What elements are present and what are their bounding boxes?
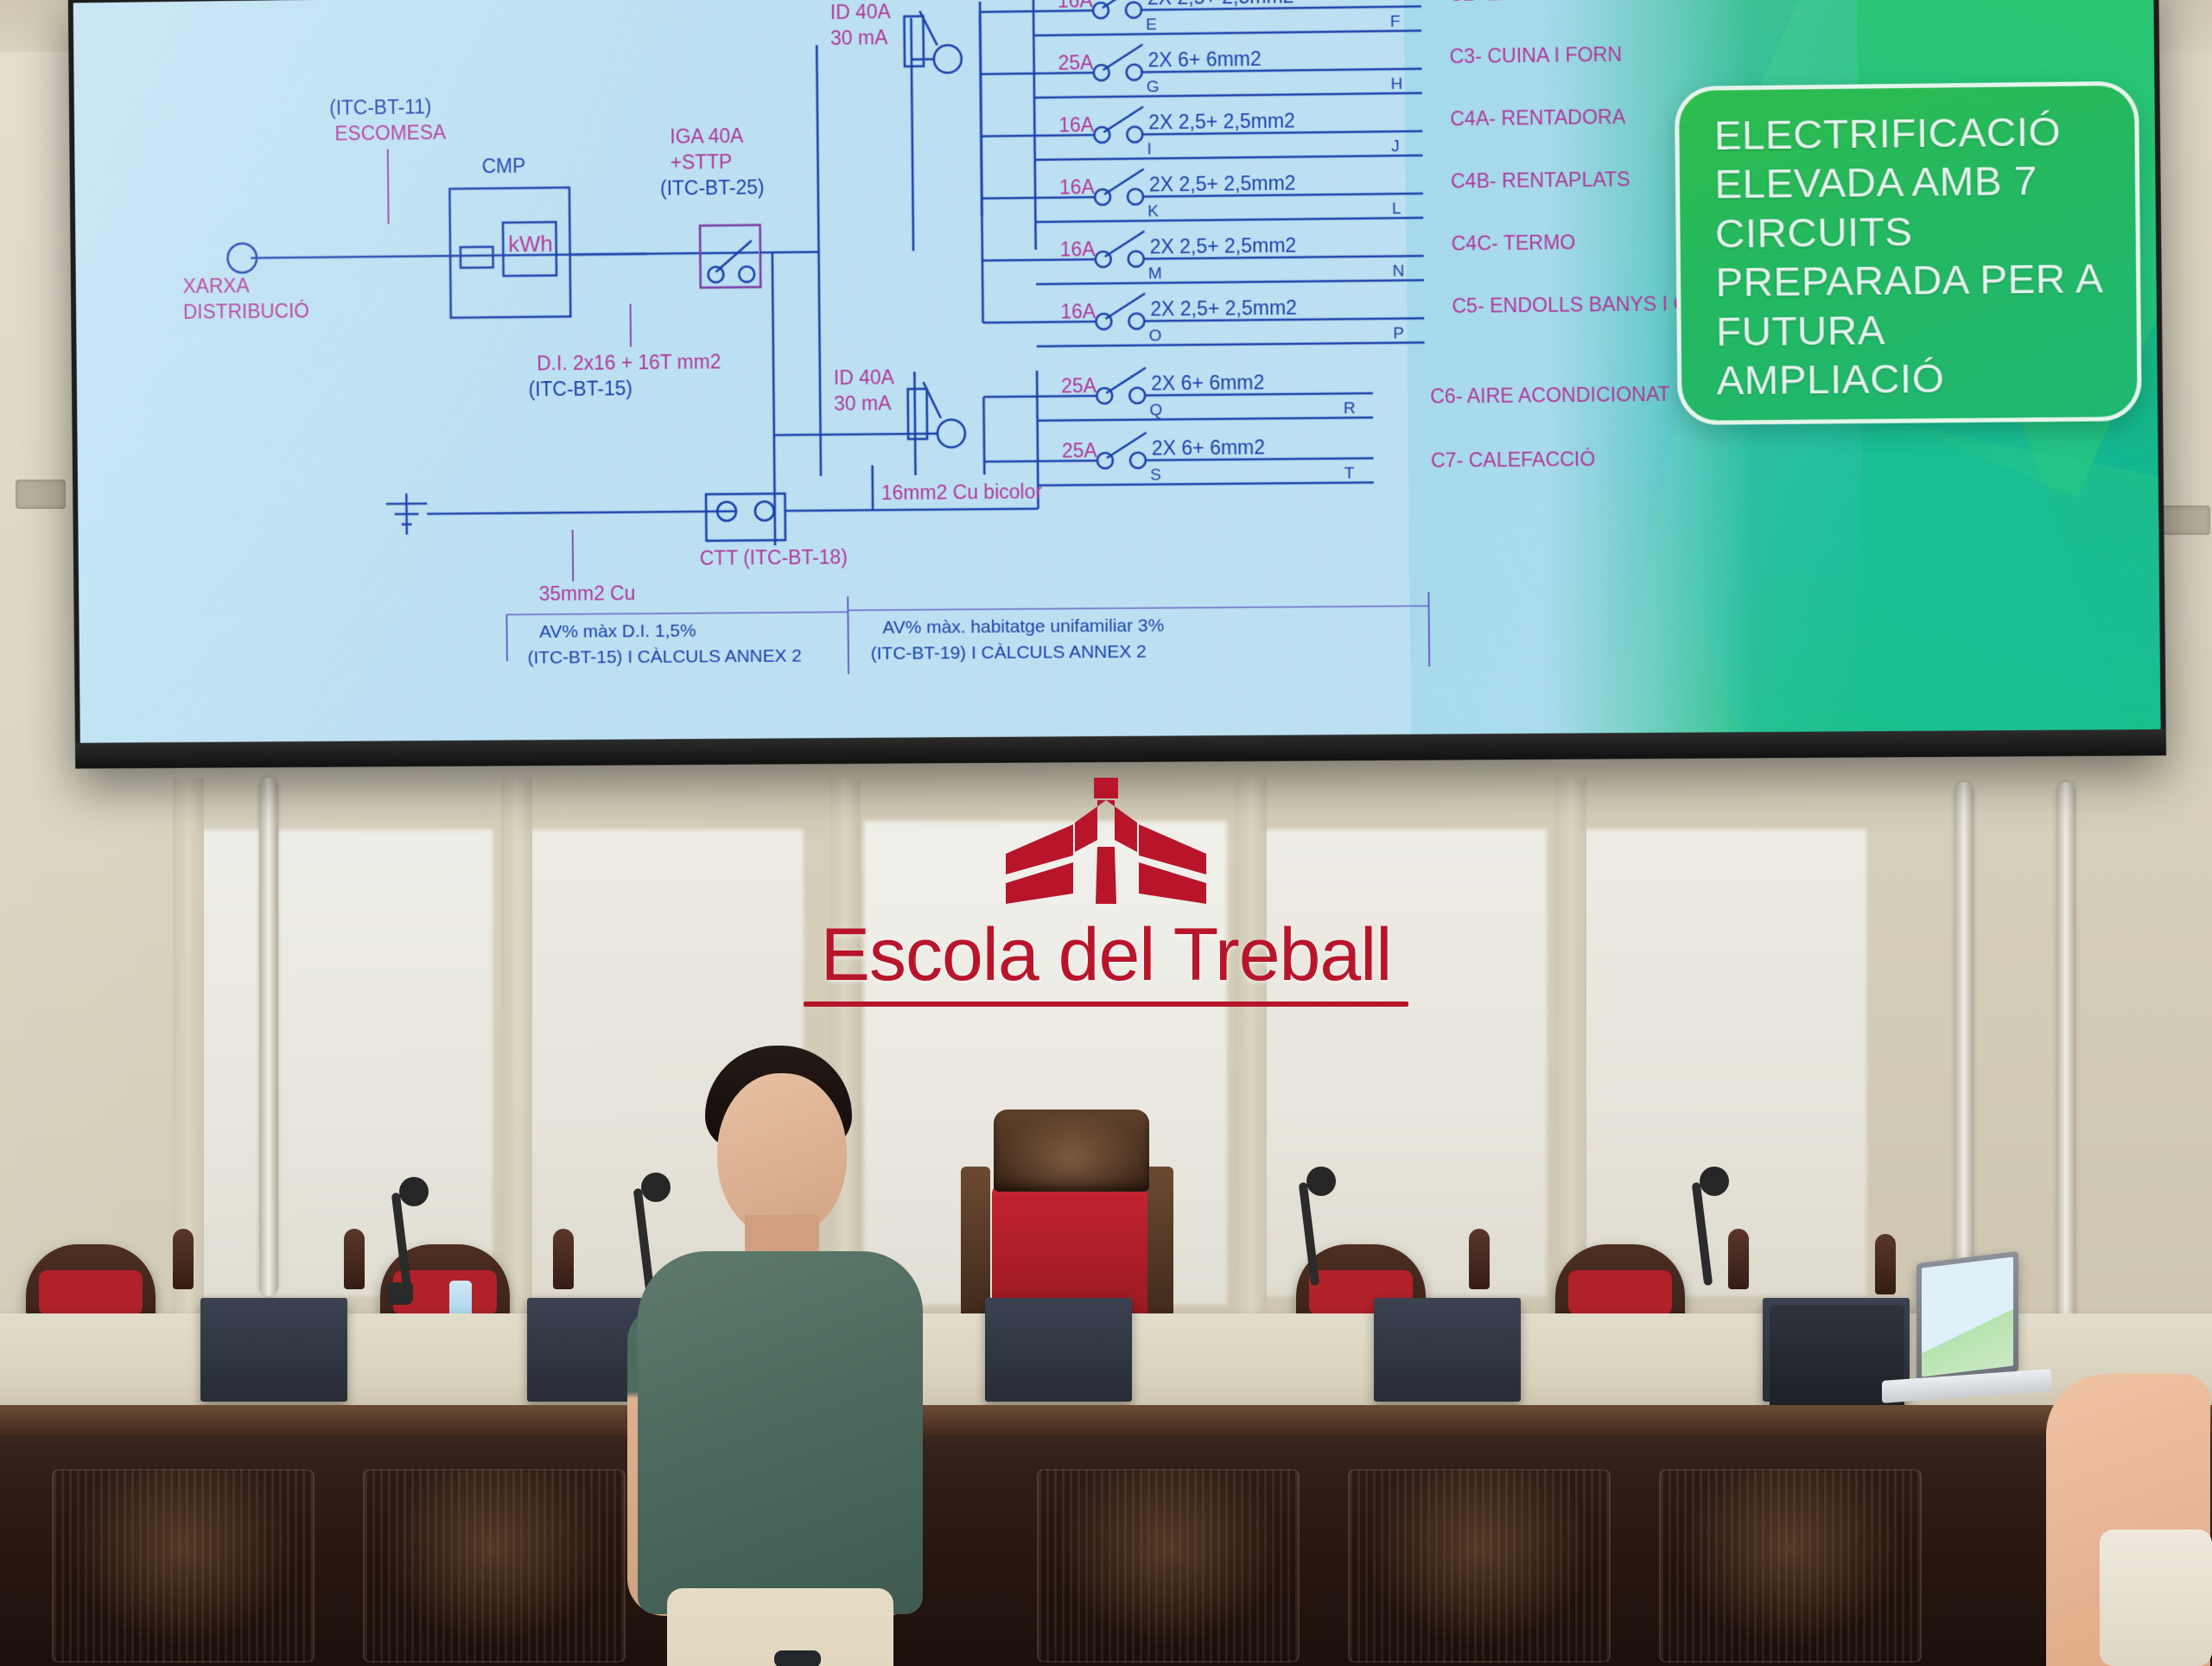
dais-rail — [0, 1405, 2212, 1434]
screenshot-root: XARXA DISTRIBUCIÓ (ITC-BT-11) ESCOMESA C… — [0, 0, 2212, 1666]
microphone-head — [1306, 1167, 1336, 1196]
escola-building-icon — [976, 778, 1236, 907]
breaker-rating: 16A — [1058, 0, 1093, 13]
screen-bracket — [16, 480, 66, 509]
circuit-tag-left: Q — [1149, 400, 1162, 420]
chair-finial — [1469, 1229, 1490, 1289]
screen-bracket — [2160, 506, 2210, 535]
circuit-tag-right: F — [1390, 12, 1401, 32]
voltage-drop-note-left-line2: (ITC-BT-15) I CÀLCULS ANNEX 2 — [527, 645, 802, 670]
wall-column — [501, 778, 532, 1313]
label-cmp: CMP — [482, 154, 526, 178]
wall-pipe — [1955, 782, 1974, 1335]
nameplate — [200, 1298, 347, 1402]
circuit-tag-left: S — [1150, 465, 1161, 485]
circuit-tag-left: O — [1148, 326, 1161, 346]
circuit-name: C3- CUINA I FORN — [1449, 42, 1622, 69]
dais-carving-panel — [1659, 1469, 1922, 1663]
venue-logo-underline — [804, 1002, 1408, 1007]
label-bonding-cable: 16mm2 Cu bicolor — [881, 480, 1042, 506]
circuit-tag-left: G — [1147, 77, 1160, 97]
circuit-tag-left: E — [1146, 15, 1157, 35]
throne-crest-carving — [994, 1110, 1149, 1192]
breaker-rating: 16A — [1058, 112, 1094, 137]
circuit-tag-left: I — [1147, 139, 1152, 159]
dais-carving-panel — [52, 1469, 315, 1663]
circuit-cable: 2X 2,5+ 2,5mm2 — [1149, 233, 1296, 259]
dais-carving-panel — [1348, 1469, 1611, 1663]
single-line-diagram: XARXA DISTRIBUCIÓ (ITC-BT-11) ESCOMESA C… — [167, 0, 1619, 704]
presenter-head — [717, 1073, 847, 1237]
label-derivation-cable: D.I. 2x16 + 16T mm2 — [537, 349, 721, 375]
chair-finial — [1728, 1229, 1749, 1289]
dais-carving-panel — [363, 1469, 626, 1663]
voltage-drop-note-right-line1: AV% màx. habitatge unifamiliar 3% — [882, 615, 1164, 639]
circuit-name: C4A- RENTADORA — [1450, 105, 1625, 131]
breaker-rating: 16A — [1060, 237, 1096, 261]
label-kwh-meter: kWh — [508, 231, 553, 258]
wall-pipe — [2056, 782, 2075, 1335]
presenter — [622, 1046, 985, 1666]
label-rcd1-line1: ID 40A — [830, 0, 891, 24]
circuit-cable: 2X 2,5+ 2,5mm2 — [1149, 171, 1296, 197]
laptop-screen — [1922, 1256, 2013, 1377]
laptop-lid — [1916, 1251, 2018, 1384]
chair-cushion — [39, 1270, 143, 1315]
circuit-tag-right: N — [1393, 261, 1405, 281]
dais-carving-panel — [1037, 1469, 1300, 1663]
label-rcd2-line1: ID 40A — [834, 365, 894, 390]
slide-canvas: XARXA DISTRIBUCIÓ (ITC-BT-11) ESCOMESA C… — [73, 0, 2161, 743]
slide-callout-text: ELECTRIFICACIÓ ELEVADA AMB 7 CIRCUITS PR… — [1714, 106, 2116, 405]
label-distribucio: DISTRIBUCIÓ — [183, 299, 309, 324]
circuit-tag-right: T — [1344, 463, 1355, 483]
chair-finial — [173, 1229, 194, 1289]
circuit-name: C7- CALEFACCIÓ — [1431, 447, 1596, 473]
projection-screen: XARXA DISTRIBUCIÓ (ITC-BT-11) ESCOMESA C… — [68, 0, 2166, 769]
slide-callout-box: ELECTRIFICACIÓ ELEVADA AMB 7 CIRCUITS PR… — [1675, 81, 2142, 425]
label-ctt: CTT (ITC-BT-18) — [700, 544, 848, 569]
circuit-cable: 2X 6+ 6mm2 — [1151, 370, 1265, 395]
wall-column — [1555, 778, 1586, 1313]
laptop[interactable] — [1901, 1257, 2022, 1413]
breaker-rating: 16A — [1060, 299, 1096, 323]
venue-logo: Escola del Treball — [760, 778, 1452, 1002]
window-panel — [199, 830, 493, 1296]
chair-finial — [1875, 1234, 1896, 1294]
chair-finial — [553, 1229, 574, 1289]
presentation-clicker[interactable] — [774, 1650, 821, 1666]
circuit-cable: 2X 6+ 6mm2 — [1147, 47, 1262, 73]
microphone-base — [387, 1282, 413, 1305]
circuit-tag-right: P — [1393, 324, 1404, 344]
circuit-tag-right: L — [1392, 199, 1402, 219]
venue-logo-text: Escola del Treball — [760, 912, 1452, 998]
circuit-tag-right: H — [1390, 74, 1402, 94]
wall-pipe — [259, 778, 278, 1296]
label-escomesa: ESCOMESA — [334, 120, 446, 145]
presenter-shirt — [638, 1251, 923, 1614]
circuit-tag-right: R — [1344, 398, 1356, 418]
label-iga-norm: (ITC-BT-25) — [660, 175, 765, 200]
microphone-head — [1700, 1167, 1729, 1196]
breaker-rating: 25A — [1062, 438, 1097, 462]
circuit-name: C4C- TERMO — [1452, 230, 1576, 256]
breaker-rating: 25A — [1058, 50, 1093, 75]
label-escomesa-norm: (ITC-BT-11) — [329, 94, 431, 119]
chair-cushion — [1568, 1270, 1672, 1315]
microphone-head — [399, 1177, 429, 1206]
circuit-tag-left: M — [1148, 264, 1162, 283]
circuit-tag-right: J — [1391, 137, 1400, 156]
breaker-rating: 16A — [1059, 175, 1095, 199]
circuit-tag-left: K — [1147, 201, 1159, 221]
circuit-name: C4B- RENTAPLATS — [1451, 167, 1630, 193]
label-derivation-norm: (ITC-BT-15) — [528, 376, 632, 401]
window-panel — [1581, 830, 1866, 1296]
circuit-name: C6- AIRE ACONDICIONAT — [1430, 382, 1670, 409]
label-rcd2-line2: 30 mA — [834, 391, 891, 416]
label-rcd1-line2: 30 mA — [830, 25, 887, 50]
label-earth-cable: 35mm2 Cu — [539, 581, 636, 606]
nameplate — [1374, 1298, 1521, 1402]
label-xarxa: XARXA — [183, 273, 250, 298]
nameplate — [985, 1298, 1132, 1402]
chair-finial — [344, 1229, 365, 1289]
circuit-cable: 2X 2,5+ 2,5mm2 — [1148, 108, 1295, 134]
circuit-cable: 2X 2,5+ 2,5mm2 — [1150, 296, 1297, 321]
audience-sleeve — [2100, 1529, 2212, 1666]
voltage-drop-note-right-line2: (ITC-BT-19) I CÀLCULS ANNEX 2 — [871, 641, 1147, 665]
label-iga-sttp: +STTP — [670, 149, 732, 175]
circuit-cable: 2X 6+ 6mm2 — [1152, 435, 1266, 460]
label-iga: IGA 40A — [670, 124, 743, 149]
voltage-drop-note-left-line1: AV% màx D.I. 1,5% — [539, 620, 696, 644]
breaker-rating: 25A — [1061, 373, 1096, 397]
